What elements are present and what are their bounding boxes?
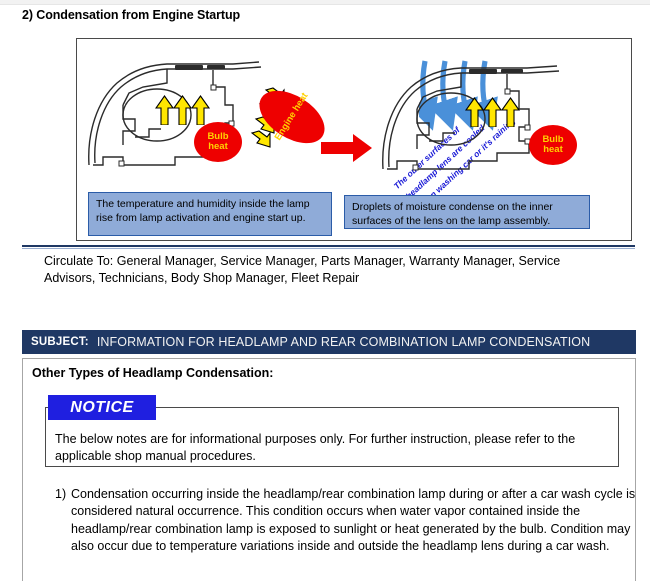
bulb-heat-line2-left: heat xyxy=(208,141,228,152)
bulb-heat-line2-right: heat xyxy=(543,144,563,155)
list-item: 1) Condensation occurring inside the hea… xyxy=(45,486,637,555)
bulb-heat-label-right: Bulb heat xyxy=(529,125,577,165)
figure-caption-left: The temperature and humidity inside the … xyxy=(88,192,332,236)
content-heading: Other Types of Headlamp Condensation: xyxy=(32,366,273,380)
bulb-heat-label-left: Bulb heat xyxy=(194,122,242,162)
circulate-to-text: Circulate To: General Manager, Service M… xyxy=(44,253,614,287)
notice-body-text: The below notes are for informational pu… xyxy=(55,431,615,465)
figure-condensation-diagram: Bulb heat Engine heat xyxy=(76,38,632,241)
section-heading: 2) Condensation from Engine Startup xyxy=(22,8,240,22)
heat-arrows-up-left-icon xyxy=(155,95,217,125)
list-item-text: Condensation occurring inside the headla… xyxy=(71,486,637,555)
list-item-number: 1) xyxy=(45,486,71,555)
heat-arrows-up-right-icon xyxy=(465,97,527,127)
subject-bar: SUBJECT: INFORMATION FOR HEADLAMP AND RE… xyxy=(22,330,636,354)
content-panel: Other Types of Headlamp Condensation: NO… xyxy=(22,358,636,581)
section-divider xyxy=(22,245,635,249)
figure-caption-right: Droplets of moisture condense on the inn… xyxy=(344,195,590,229)
notice-tab-label: NOTICE xyxy=(48,395,156,420)
engine-heat-text: Engine heat xyxy=(274,92,311,143)
page-top-strip xyxy=(0,0,650,5)
transition-arrow-right-icon xyxy=(321,133,373,163)
subject-label: SUBJECT: xyxy=(31,336,89,348)
subject-title: INFORMATION FOR HEADLAMP AND REAR COMBIN… xyxy=(97,335,590,349)
